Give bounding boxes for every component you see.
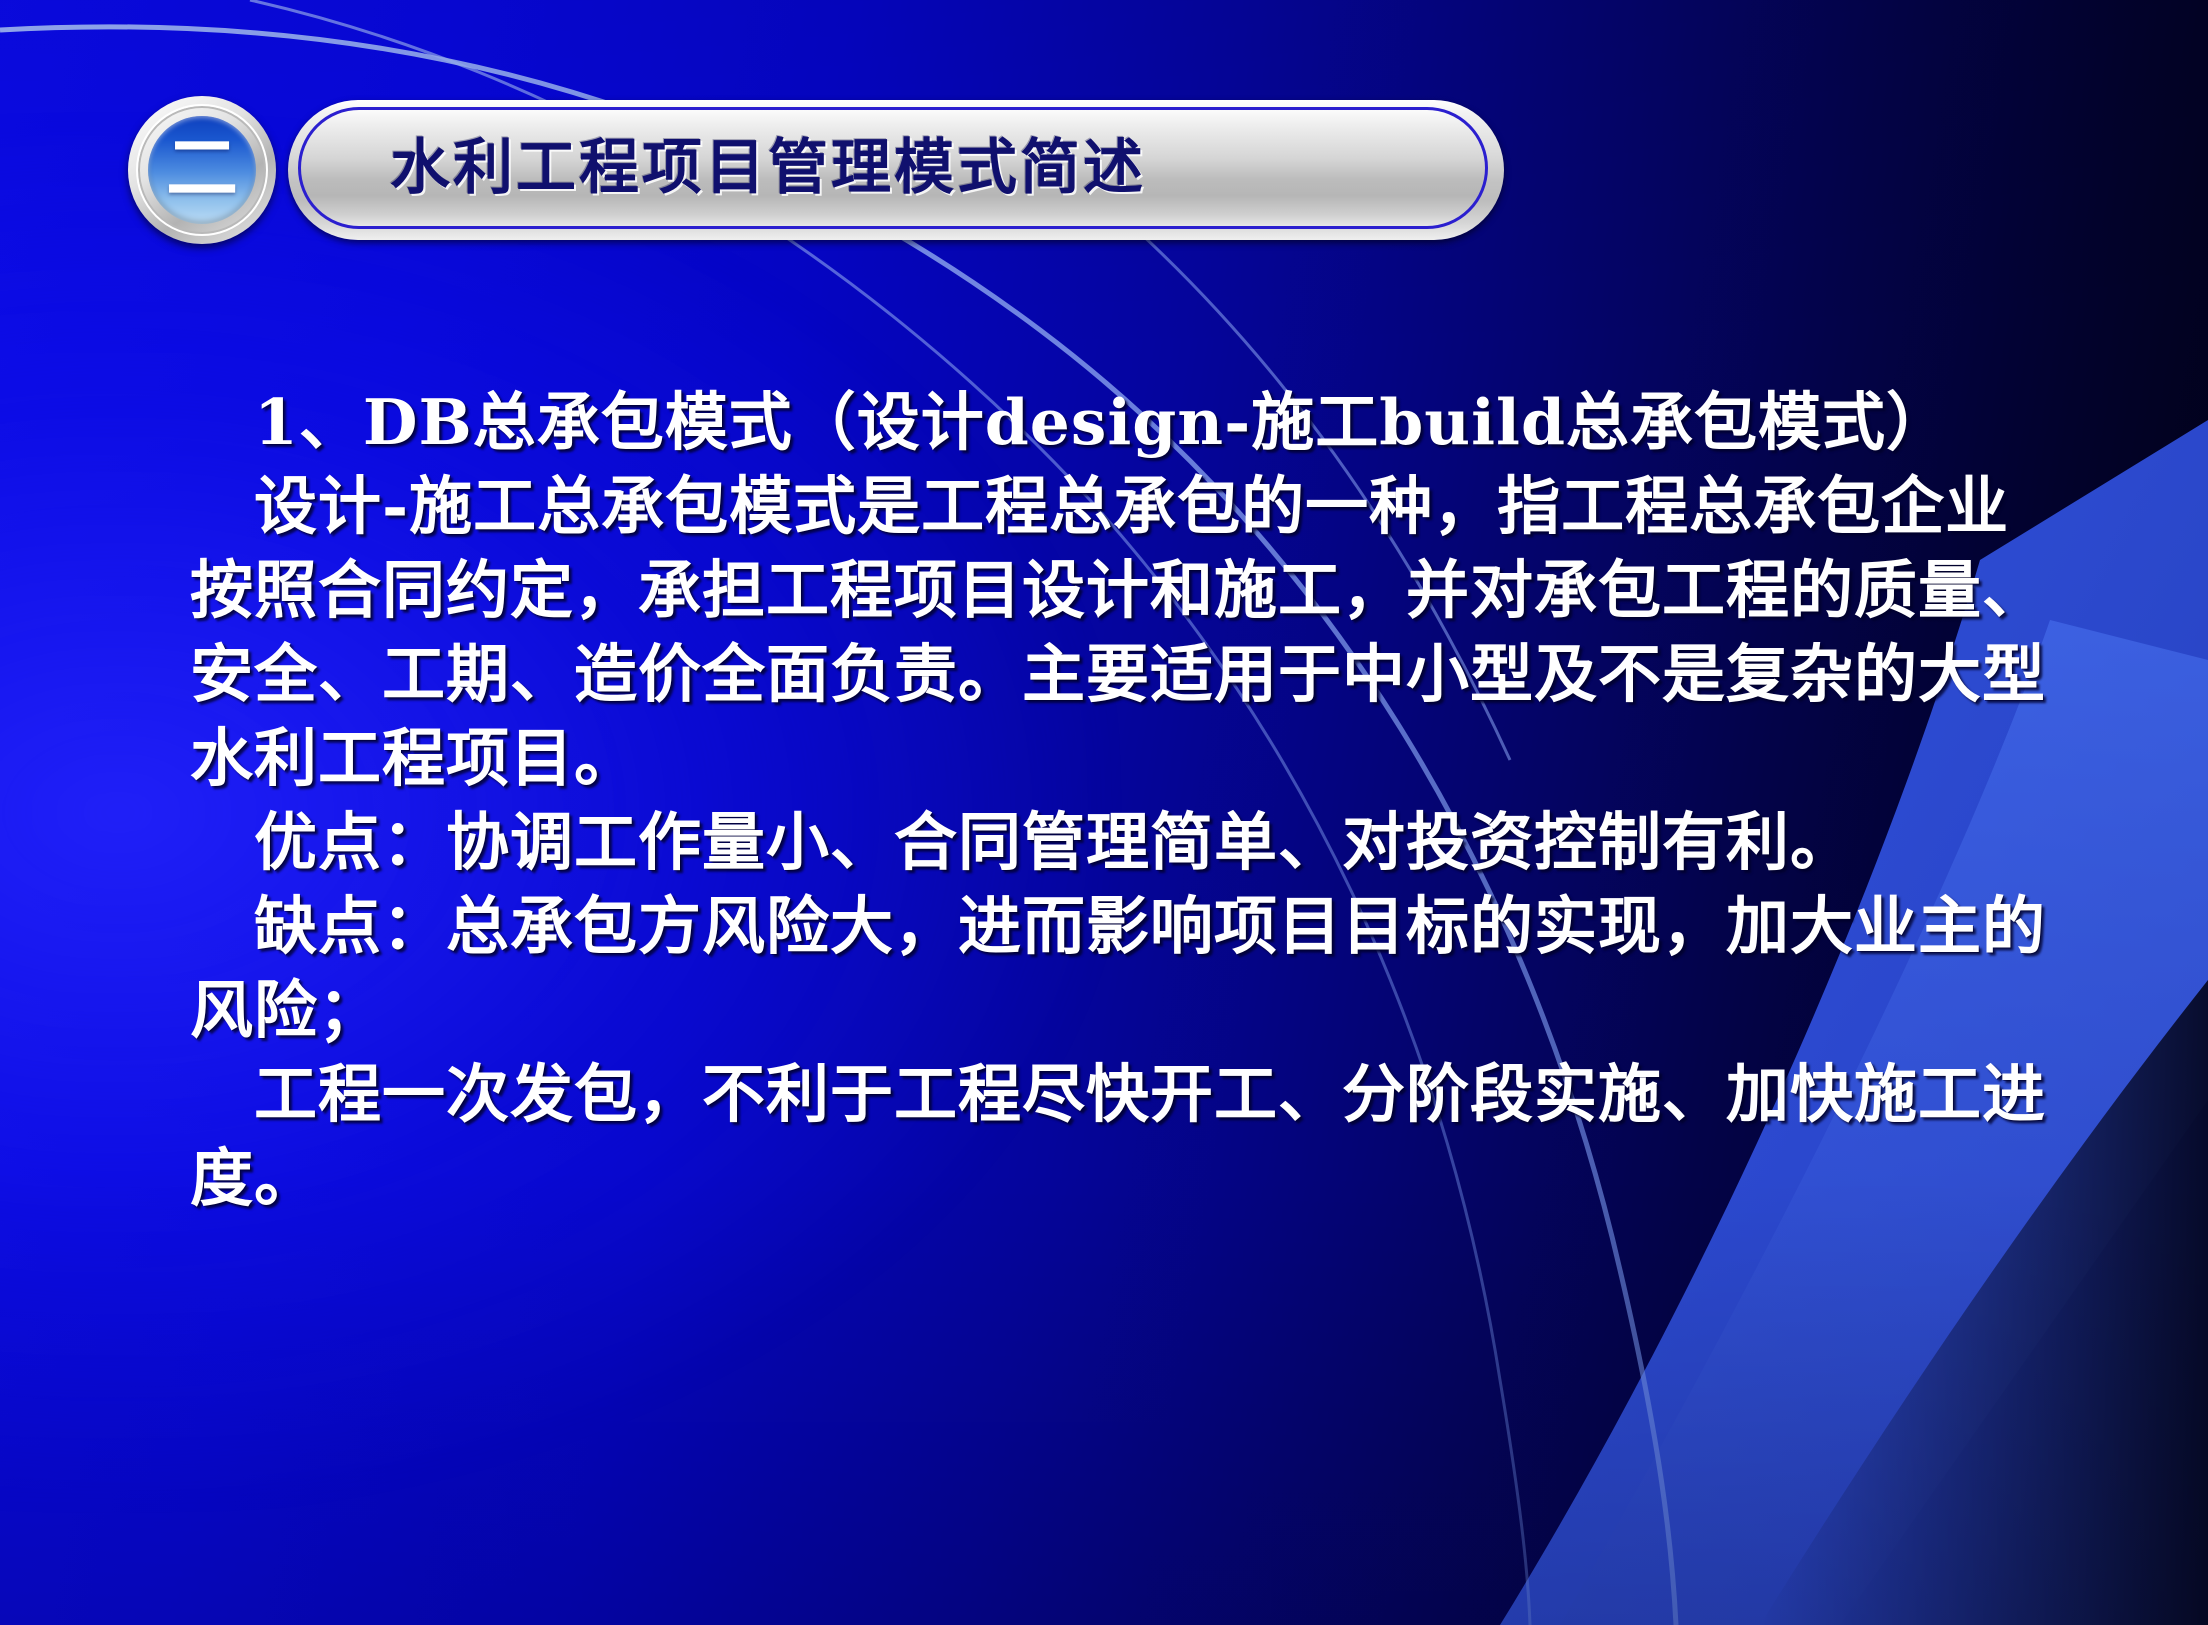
- page-title: 水利工程项目管理模式简述: [390, 96, 1146, 240]
- body-paragraph-heading: 1、DB总承包模式（设计design-施工build总承包模式）: [190, 380, 2070, 464]
- badge-core: 二: [148, 116, 256, 224]
- slide-title-banner: 二 水利工程项目管理模式简述: [128, 96, 1508, 244]
- body-paragraph-advantages: 优点：协调工作量小、合同管理简单、对投资控制有利。: [190, 800, 2070, 884]
- section-number-badge: 二: [128, 96, 276, 244]
- slide-body-content: 1、DB总承包模式（设计design-施工build总承包模式） 设计-施工总承…: [190, 380, 2070, 1220]
- body-paragraph-disadvantages: 缺点：总承包方风险大，进而影响项目目标的实现，加大业主的风险；: [190, 884, 2070, 1052]
- presentation-slide: 二 水利工程项目管理模式简述 1、DB总承包模式（设计design-施工buil…: [0, 0, 2208, 1625]
- body-paragraph-disadvantages-continued: 工程一次发包，不利于工程尽快开工、分阶段实施、加快施工进度。: [190, 1052, 2070, 1220]
- body-paragraph-definition: 设计-施工总承包模式是工程总承包的一种，指工程总承包企业按照合同约定，承担工程项…: [190, 464, 2070, 800]
- badge-number-label: 二: [166, 132, 238, 204]
